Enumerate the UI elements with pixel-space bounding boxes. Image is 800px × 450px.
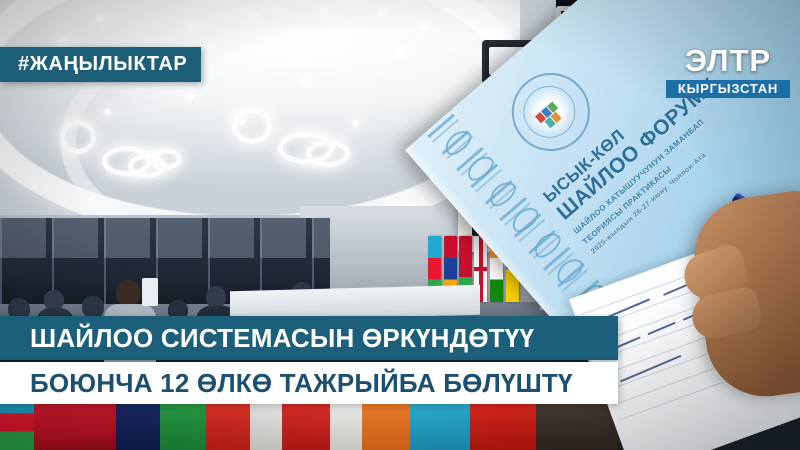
- glass-wall-highlight: [0, 218, 330, 258]
- ceiling-spotlight: [188, 23, 198, 33]
- flag-kyrgyzstan-closeup: [470, 396, 540, 450]
- pendant-ring-light: [232, 108, 272, 144]
- photographer-head: [116, 280, 140, 306]
- channel-logo: ЭЛТР КЫРГЫЗСТАН: [662, 46, 794, 102]
- ceiling-spotlight: [296, 52, 304, 60]
- flag-belarus-closeup: [160, 396, 212, 450]
- flag-belarus-closeup: [116, 396, 162, 450]
- flag-georgia-closeup: [282, 396, 332, 450]
- channel-logo-wordmark: ЭЛТР: [662, 46, 794, 76]
- ceiling-spotlight: [248, 10, 259, 21]
- audience-head: [82, 296, 104, 318]
- ceiling-spotlight: [262, 33, 270, 41]
- flag-azerbaijan-closeup: [34, 396, 116, 450]
- ceiling-spotlight: [420, 22, 428, 30]
- audience-head: [44, 290, 64, 310]
- flag-belarus-closeup: [206, 396, 254, 450]
- ceiling-spotlight: [342, 28, 350, 36]
- channel-logo-country-badge: КЫРГЫЗСТАН: [666, 80, 790, 98]
- headline-line-1: ШАЙЛОО СИСТЕМАСЫН ӨРКҮНДӨТҮҮ: [0, 316, 618, 360]
- pendant-ring-light: [306, 140, 350, 167]
- ceiling-spotlight: [300, 78, 307, 85]
- ceiling-spotlight: [96, 14, 105, 23]
- ceiling-spotlight: [352, 120, 359, 127]
- headline-line-2: БОЮНЧА 12 ӨЛКӨ ТАЖРЫЙБА БӨЛҮШТҮ: [0, 362, 618, 404]
- flag-kazakhstan-closeup: [410, 396, 476, 450]
- ceiling-spotlight: [444, 4, 454, 14]
- flag-india-closeup: [330, 396, 366, 450]
- ceiling-spotlight: [186, 92, 194, 100]
- hashtag-label: #ЖАҢЫЛЫКТАР: [18, 53, 187, 76]
- ceiling-spotlight: [206, 43, 214, 51]
- broadcast-frame: ЫСЫК-КӨЛ ШАЙЛОО ФОРУМУ ШАЙЛОО КАТЫШУУЧУН…: [0, 0, 800, 450]
- hashtag-badge: #ЖАҢЫЛЫКТАР: [0, 47, 201, 82]
- flag-georgia-closeup: [250, 396, 286, 450]
- news-headline: ШАЙЛОО СИСТЕМАСЫН ӨРКҮНДӨТҮҮ БОЮНЧА 12 Ө…: [0, 316, 618, 404]
- ceiling-spotlight: [378, 6, 388, 16]
- flag-india-closeup: [362, 396, 416, 450]
- pendant-ring-light: [60, 120, 96, 154]
- ceiling-spotlight: [104, 108, 111, 115]
- ceiling-spotlight: [318, 7, 329, 18]
- audience-head: [206, 286, 226, 308]
- ceiling-spotlight: [396, 48, 405, 57]
- pendant-ring-light: [150, 148, 182, 170]
- camera-device: [142, 278, 158, 306]
- close-up-flags-row: [0, 396, 620, 450]
- handwriting-stroke: [620, 355, 682, 383]
